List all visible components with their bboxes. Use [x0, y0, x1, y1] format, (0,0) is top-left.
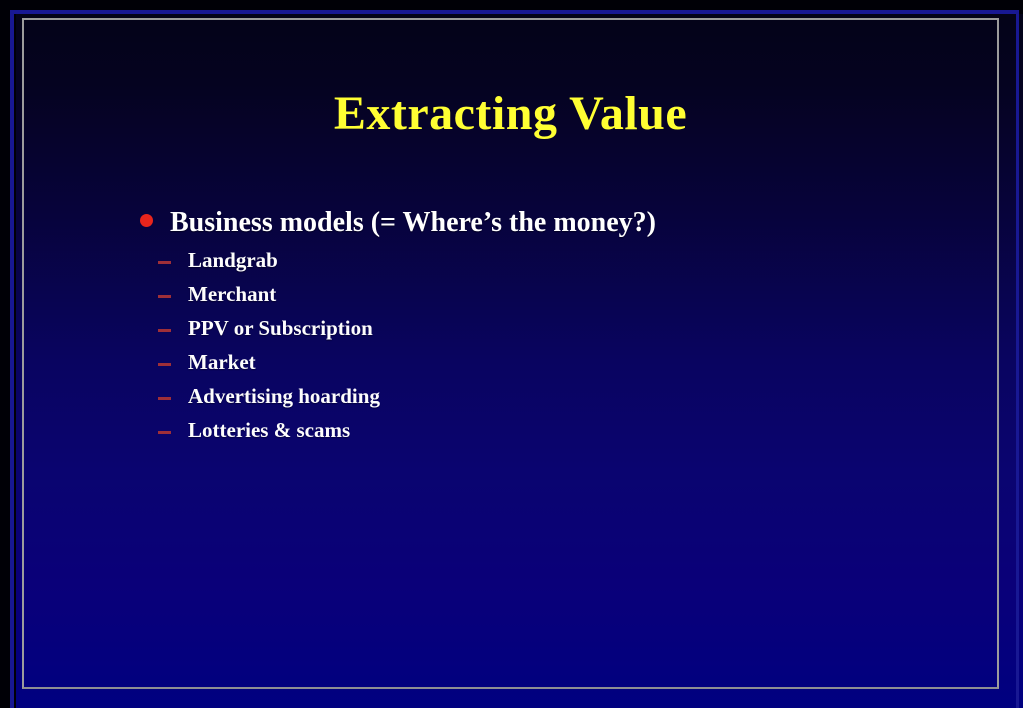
list-item: Landgrab	[140, 247, 940, 281]
bullet-level2-label: Advertising hoarding	[188, 383, 380, 410]
bullet-level2-label: Landgrab	[188, 247, 278, 274]
bullet-level2-label: PPV or Subscription	[188, 315, 373, 342]
bullet-dash-icon	[140, 399, 170, 400]
list-item: Lotteries & scams	[140, 417, 940, 451]
sub-bullet-list: Landgrab Merchant PPV or Subscription Ma…	[140, 247, 940, 451]
list-item: Market	[140, 349, 940, 383]
bullet-level2-label: Merchant	[188, 281, 276, 308]
bullet-dash-icon	[140, 331, 170, 332]
bullet-circle-icon	[140, 218, 170, 227]
bullet-dash-icon	[140, 263, 170, 264]
bullet-level1-label: Business models (= Where’s the money?)	[170, 205, 656, 241]
bullet-dash-icon	[140, 365, 170, 366]
bullet-item-level1: Business models (= Where’s the money?)	[140, 205, 940, 241]
bullet-dash-icon	[140, 297, 170, 298]
bullet-level2-label: Market	[188, 349, 256, 376]
slide-title: Extracting Value	[22, 88, 999, 141]
list-item: PPV or Subscription	[140, 315, 940, 349]
slide-body-content: Business models (= Where’s the money?) L…	[140, 205, 940, 451]
bullet-level2-label: Lotteries & scams	[188, 417, 350, 444]
bullet-dash-icon	[140, 433, 170, 434]
list-item: Merchant	[140, 281, 940, 315]
presentation-slide: Extracting Value Business models (= Wher…	[0, 0, 1023, 708]
list-item: Advertising hoarding	[140, 383, 940, 417]
